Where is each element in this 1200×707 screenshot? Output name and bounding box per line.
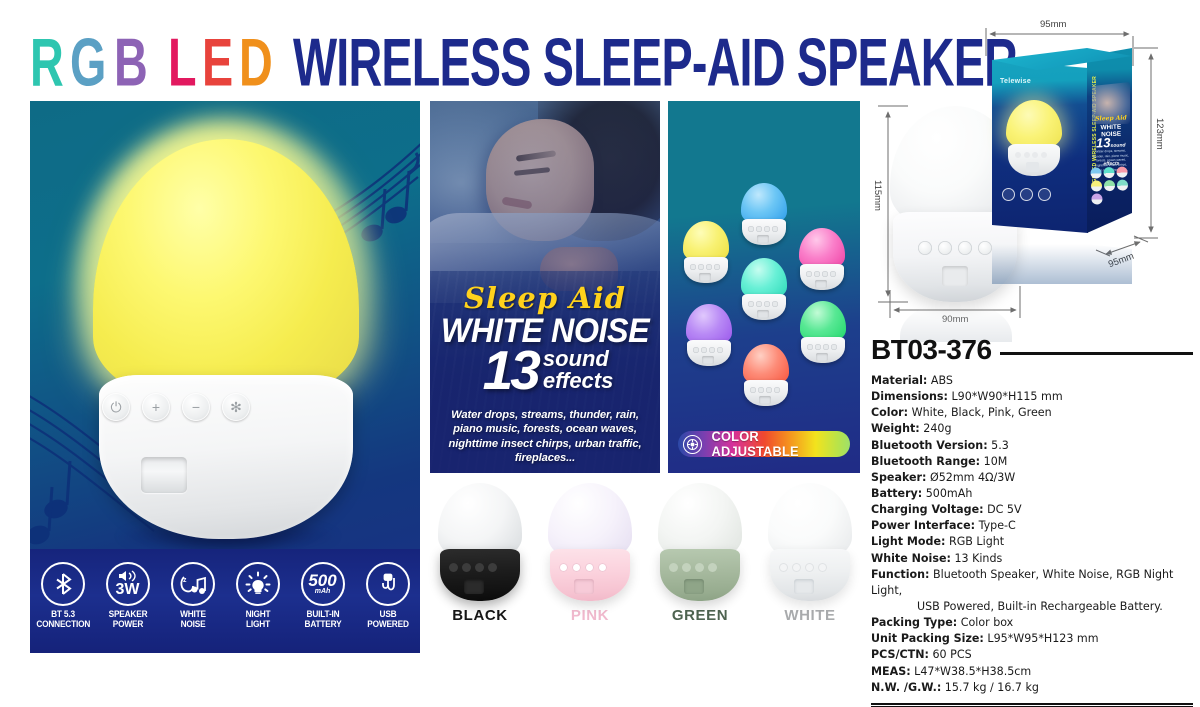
color-adjustable-banner: COLOR ADJUSTABLE: [678, 431, 850, 457]
variant-buttons: [449, 563, 497, 572]
hero-button-row: ⏻ + − ✻: [102, 393, 250, 421]
spec-value: DC 5V: [987, 503, 1021, 516]
spec-key: Power Interface:: [871, 519, 975, 532]
title-letter-b: B: [114, 24, 147, 102]
box-color-swatches: [1090, 166, 1133, 204]
spec-key: N.W. /G.W.:: [871, 681, 941, 694]
spec-value: RGB Light: [949, 535, 1004, 548]
feature-usb-powered: USB POWERED: [359, 562, 417, 630]
variant-buttons: [779, 563, 827, 572]
title-letter-l: L: [168, 24, 196, 102]
variant-white[interactable]: WHITE: [760, 483, 860, 653]
spec-key: Function:: [871, 568, 929, 581]
spec-value: 13 Kinds: [954, 552, 1002, 565]
spec-value: 15.7 kg / 16.7 kg: [945, 681, 1039, 694]
egg-port: [815, 280, 827, 288]
rgb-egg-blue: [741, 183, 787, 245]
battery-500mah-icon: 500 mAh: [301, 562, 345, 606]
volume-down-button[interactable]: −: [182, 393, 210, 421]
feature-bt-connection: BT 5.3 CONNECTION: [34, 562, 92, 630]
spec-value: Ø52mm 4Ω/3W: [930, 471, 1015, 484]
spec-key: Charging Voltage:: [871, 503, 984, 516]
feature-label: NIGHT LIGHT: [231, 609, 284, 630]
white-noise-panel: Sleep Aid WHITE NOISE 13 sound effects W…: [430, 101, 660, 473]
variant-green[interactable]: GREEN: [650, 483, 750, 653]
egg-buttons: [690, 264, 720, 270]
egg-port: [757, 310, 769, 318]
box-product-illustration: [1006, 100, 1062, 176]
speaker-3w-icon: 3W: [106, 562, 150, 606]
battery-capacity-text: 500: [308, 573, 336, 588]
feature-icon-strip: BT 5.3 CONNECTION 3W SPEAKER POWER: [30, 549, 420, 653]
feature-label: BUILT-IN BATTERY: [296, 609, 349, 630]
spec-key: PCS/CTN:: [871, 648, 929, 661]
rgb-panel: R G B: [668, 101, 860, 473]
variant-pink[interactable]: PINK: [540, 483, 640, 653]
sku-rule: [1000, 352, 1193, 355]
spec-value: Color box: [961, 616, 1014, 629]
spec-value: 240g: [923, 422, 951, 435]
spec-row: Unit Packing Size: L95*W95*H123 mm: [871, 631, 1193, 647]
spec-row: Packing Type: Color box: [871, 615, 1193, 631]
variant-black[interactable]: BLACK: [430, 483, 530, 653]
spec-row: N.W. /G.W.: 15.7 kg / 16.7 kg: [871, 680, 1193, 696]
dim-box-height: 123mm: [1154, 118, 1165, 150]
title-letter-r: R: [30, 24, 63, 102]
spec-key: Battery:: [871, 487, 922, 500]
title-letter-d: D: [239, 24, 272, 102]
color-wheel-icon: [683, 435, 702, 454]
spec-row: Battery: 500mAh: [871, 486, 1193, 502]
sound-effects-count-row: 13 sound effects: [448, 347, 648, 394]
spec-value: Type-C: [979, 519, 1016, 532]
egg-port: [816, 353, 828, 361]
egg-buttons: [693, 347, 723, 353]
spec-rows: Material: ABS Dimensions: L90*W90*H115 m…: [871, 373, 1193, 696]
spec-bottom-rule: [871, 703, 1193, 707]
spec-key: MEAS:: [871, 665, 911, 678]
power-button[interactable]: ⏻: [102, 393, 130, 421]
variant-device: [768, 483, 852, 601]
feature-label: BT 5.3 CONNECTION: [36, 609, 89, 630]
variant-port: [574, 579, 594, 594]
spec-row: White Noise: 13 Kinds: [871, 551, 1193, 567]
box-egg-dome: [1006, 100, 1062, 150]
spec-key: White Noise:: [871, 552, 951, 565]
spec-value: 500mAh: [926, 487, 973, 500]
dim-product-height: 115mm: [872, 180, 883, 211]
spec-value: L95*W95*H123 mm: [987, 632, 1098, 645]
product-port: [942, 266, 968, 286]
rgb-letter-r: R: [694, 117, 737, 179]
variant-device: [438, 483, 522, 601]
rgb-letter-b: B: [792, 117, 835, 179]
retail-package-box: Telewise RGB LED WIRELESS SLEEP-AID SPEA…: [992, 48, 1132, 233]
spec-key: Speaker:: [871, 471, 926, 484]
speaker-power-text: 3W: [116, 581, 140, 598]
spec-value: 60 PCS: [932, 648, 971, 661]
variant-port: [464, 579, 484, 594]
effects-word: effects: [543, 370, 614, 392]
night-light-icon: [236, 562, 280, 606]
title-letter-g: G: [70, 24, 106, 102]
hero-light-dome: [93, 139, 359, 407]
feature-label: WHITE NOISE: [166, 609, 219, 630]
egg-port: [699, 273, 711, 281]
variant-device: [548, 483, 632, 601]
sound-effects-list: Water drops, streams, thunder, rain, pia…: [438, 408, 652, 465]
white-noise-text-block: Sleep Aid WHITE NOISE 13 sound effects W…: [430, 101, 660, 473]
box-feature-badges: [1002, 188, 1051, 201]
spec-key: Material:: [871, 374, 927, 387]
spec-value: ABS: [931, 374, 953, 387]
rgb-egg-coral: [743, 344, 789, 406]
dimension-diagram: 95mm 123mm 95mm 115mm 90mm Telewise RGB …: [868, 14, 1190, 332]
svg-text:z: z: [183, 577, 187, 584]
box-egg-port: [1026, 162, 1039, 172]
volume-up-button[interactable]: +: [142, 393, 170, 421]
spec-key: Color:: [871, 406, 908, 419]
title-letter-e: E: [202, 24, 232, 102]
sound-effects-label: sound effects: [543, 348, 614, 392]
dim-box-width: 95mm: [1040, 19, 1066, 30]
spec-key: Light Mode:: [871, 535, 945, 548]
spec-value: L90*W90*H115 mm: [952, 390, 1063, 403]
feature-label: SPEAKER POWER: [101, 609, 154, 630]
spec-row: Charging Voltage: DC 5V: [871, 502, 1193, 518]
spec-value: 5.3: [991, 439, 1009, 452]
hero-usb-port: [141, 457, 187, 493]
variant-port: [794, 579, 814, 594]
color-adjustable-label: COLOR ADJUSTABLE: [712, 429, 847, 459]
spec-row: Light Mode: RGB Light: [871, 534, 1193, 550]
variant-buttons: [669, 563, 717, 572]
feature-speaker-power: 3W SPEAKER POWER: [99, 562, 157, 630]
color-variant-row: BLACK PINK GREEN WHITE: [430, 483, 860, 653]
spec-row: Material: ABS: [871, 373, 1193, 389]
variant-label: WHITE: [760, 607, 860, 624]
rgb-egg-yellow: [683, 221, 729, 283]
egg-buttons: [750, 387, 780, 393]
spec-row: Color: White, Black, Pink, Green: [871, 405, 1193, 421]
sound-effects-count: 13: [483, 347, 538, 394]
variant-buttons: [559, 563, 607, 572]
spec-value: White, Black, Pink, Green: [912, 406, 1052, 419]
spec-row-continuation: USB Powered, Built-in Rechargeable Batte…: [871, 599, 1193, 615]
spec-key: Unit Packing Size:: [871, 632, 984, 645]
sleep-aid-script-title: Sleep Aid: [430, 281, 660, 315]
spec-row: Bluetooth Version: 5.3: [871, 438, 1193, 454]
egg-port: [702, 356, 714, 364]
spec-key: Dimensions:: [871, 390, 948, 403]
rgb-letter-g: G: [741, 117, 787, 179]
rgb-egg-cyan: [741, 258, 787, 320]
rgb-egg-pink: [799, 228, 845, 290]
spec-key: Weight:: [871, 422, 920, 435]
egg-buttons: [748, 226, 778, 232]
egg-buttons: [806, 271, 836, 277]
feature-battery: 500 mAh BUILT-IN BATTERY: [294, 562, 352, 630]
hero-product-panel: ⏻ + − ✻ BT 5.3 CONNECTION: [30, 101, 420, 653]
variant-port: [684, 579, 704, 594]
bluetooth-icon: [41, 562, 85, 606]
brand-label: Telewise: [1000, 78, 1031, 85]
rgb-wordmark: R G B: [668, 117, 860, 179]
variant-label: GREEN: [650, 607, 750, 624]
spec-row: MEAS: L47*W38.5*H38.5cm: [871, 664, 1193, 680]
hero-speaker-device: [93, 139, 359, 539]
spec-row: Dimensions: L90*W90*H115 mm: [871, 389, 1193, 405]
variant-label: BLACK: [430, 607, 530, 624]
feature-label: USB POWERED: [361, 609, 414, 630]
egg-port: [757, 235, 769, 243]
spec-row: Weight: 240g: [871, 421, 1193, 437]
rgb-egg-green: [800, 301, 846, 363]
spec-value: 10M: [984, 455, 1008, 468]
spec-row: PCS/CTN: 60 PCS: [871, 647, 1193, 663]
spec-row: Speaker: Ø52mm 4Ω/3W: [871, 470, 1193, 486]
variant-label: PINK: [540, 607, 640, 624]
sku-header: BT03-376: [871, 334, 1193, 366]
specification-sheet: BT03-376 Material: ABS Dimensions: L90*W…: [871, 334, 1193, 707]
spec-key: Bluetooth Version:: [871, 439, 988, 452]
spec-key: Packing Type:: [871, 616, 957, 629]
spec-value: L47*W38.5*H38.5cm: [914, 665, 1031, 678]
white-noise-icon: z: [171, 562, 215, 606]
light-mode-button[interactable]: ✻: [222, 393, 250, 421]
egg-buttons: [748, 301, 778, 307]
variant-device: [658, 483, 742, 601]
sku-code: BT03-376: [871, 334, 992, 366]
egg-buttons: [807, 344, 837, 350]
usb-cable-icon: [366, 562, 410, 606]
spec-row: Bluetooth Range: 10M: [871, 454, 1193, 470]
box-egg-buttons: [1015, 152, 1047, 158]
feature-white-noise: z WHITE NOISE: [164, 562, 222, 630]
spec-row: Function: Bluetooth Speaker, White Noise…: [871, 567, 1193, 599]
rgb-egg-purple: [686, 304, 732, 366]
spec-key: Bluetooth Range:: [871, 455, 980, 468]
box-sleep-aid-title: Sleep Aid: [1090, 114, 1132, 122]
spec-row: Power Interface: Type-C: [871, 518, 1193, 534]
feature-night-light: NIGHT LIGHT: [229, 562, 287, 630]
product-buttons: [918, 241, 992, 255]
egg-port: [759, 396, 771, 404]
